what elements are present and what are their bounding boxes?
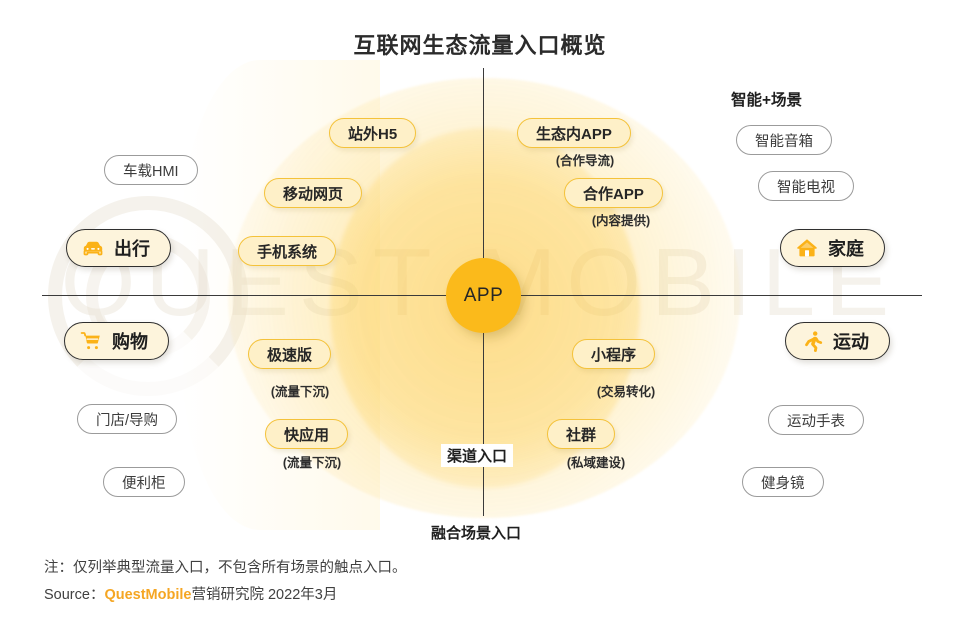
entry-caption-community: (私域建设) [543, 452, 649, 471]
entry-pill-mini-program[interactable]: 小程序 [572, 339, 655, 369]
infographic-canvas: QUEST MOBILE 互联网生态流量入口概览 APP 渠道入口 融合场景入口… [0, 0, 960, 618]
entry-pill-offsite-h5[interactable]: 站外H5 [329, 118, 416, 148]
entry-pill-partner-app[interactable]: 合作APP [564, 178, 663, 208]
footer-source-brand: QuestMobile [104, 587, 191, 603]
house-icon [795, 236, 819, 260]
footer-note: 注：仅列举典型流量入口，不包含所有场景的触点入口。 [44, 556, 407, 577]
device-pill-convenience-cabinet[interactable]: 便利柜 [103, 467, 185, 497]
entry-pill-in-eco-app[interactable]: 生态内APP [517, 118, 631, 148]
entry-pill-lite-version[interactable]: 极速版 [248, 339, 331, 369]
device-pill-smart-tv[interactable]: 智能电视 [758, 171, 854, 201]
entry-caption-lite-version: (流量下沉) [250, 381, 350, 400]
entry-pill-mobile-web[interactable]: 移动网页 [264, 178, 362, 208]
device-pill-car-hmi[interactable]: 车载HMI [104, 155, 198, 185]
entry-pill-phone-os[interactable]: 手机系统 [238, 236, 336, 266]
axis-label-fusion-scene-entry: 融合场景入口 [425, 521, 527, 544]
section-heading-smart-scene: 智能+场景 [731, 88, 802, 110]
entry-caption-partner-app: (内容提供) [570, 210, 672, 229]
device-pill-smart-speaker[interactable]: 智能音箱 [736, 125, 832, 155]
category-label-home: 家庭 [828, 235, 864, 261]
category-label-travel: 出行 [114, 235, 150, 261]
entry-caption-in-eco-app: (合作导流) [531, 150, 639, 169]
footer-source-rest: 营销研究院 2022年3月 [191, 587, 337, 603]
running-person-icon [800, 329, 824, 353]
category-pill-travel[interactable]: 出行 [66, 229, 171, 267]
category-label-sports: 运动 [833, 328, 869, 354]
car-icon [81, 236, 105, 260]
entry-pill-quick-app[interactable]: 快应用 [265, 419, 348, 449]
shopping-cart-icon [79, 329, 103, 353]
device-pill-fitness-mirror[interactable]: 健身镜 [742, 467, 824, 497]
category-pill-shopping[interactable]: 购物 [64, 322, 169, 360]
category-pill-sports[interactable]: 运动 [785, 322, 890, 360]
device-pill-store-guide[interactable]: 门店/导购 [77, 404, 177, 434]
entry-caption-quick-app: (流量下沉) [262, 452, 362, 471]
footer-source-prefix: Source： [44, 587, 104, 603]
category-pill-home[interactable]: 家庭 [780, 229, 885, 267]
axis-label-channel-entry: 渠道入口 [441, 444, 513, 467]
footer-source: Source：QuestMobile营销研究院 2022年3月 [44, 583, 337, 604]
category-label-shopping: 购物 [112, 328, 148, 354]
entry-caption-mini-program: (交易转化) [575, 381, 677, 400]
page-title: 互联网生态流量入口概览 [0, 28, 960, 60]
center-app-node[interactable]: APP [446, 258, 521, 333]
device-pill-sport-watch[interactable]: 运动手表 [768, 405, 864, 435]
entry-pill-community[interactable]: 社群 [547, 419, 615, 449]
